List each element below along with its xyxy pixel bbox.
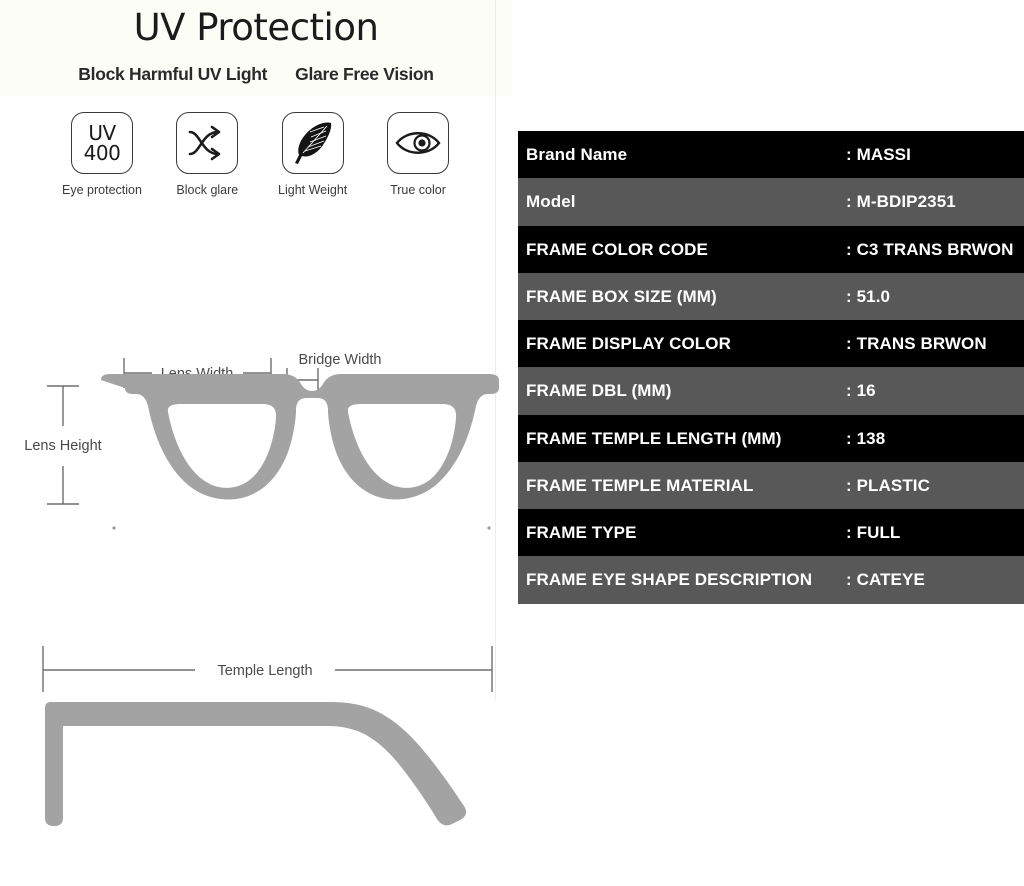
spec-value: : C3 TRANS BRWON — [836, 226, 1024, 273]
table-row: FRAME TEMPLE LENGTH (MM): 138 — [518, 415, 1024, 462]
eye-glyph — [395, 129, 441, 157]
spec-value: : 16 — [836, 367, 1024, 414]
lens-height-label: Lens Height — [24, 438, 101, 454]
spec-key: FRAME COLOR CODE — [518, 226, 836, 273]
spec-table-body: Brand Name: MASSIModel: M-BDIP2351FRAME … — [518, 131, 1024, 604]
spec-key: FRAME TEMPLE MATERIAL — [518, 462, 836, 509]
spec-value: : 138 — [836, 415, 1024, 462]
temple-length-label: Temple Length — [217, 663, 312, 679]
shuffle-arrows-glyph — [186, 125, 228, 161]
spec-value: : MASSI — [836, 131, 1024, 178]
feature-label-block-glare: Block glare — [176, 183, 238, 197]
spec-value: : PLASTIC — [836, 462, 1024, 509]
temple-arm-silhouette — [45, 702, 466, 826]
table-row: FRAME EYE SHAPE DESCRIPTION: CATEYE — [518, 556, 1024, 603]
uv-subtitle-block-harmful: Block Harmful UV Light — [78, 64, 267, 85]
eye-icon — [387, 112, 449, 174]
uv-subtitle-row: Block Harmful UV Light Glare Free Vision — [0, 64, 512, 85]
feather-glyph — [291, 120, 335, 166]
feature-light-weight: Light Weight — [265, 112, 361, 197]
frame-left-dot — [112, 526, 115, 529]
bridge-width-label: Bridge Width — [298, 352, 381, 368]
spec-value: : 51.0 — [836, 273, 1024, 320]
spec-key: Model — [518, 178, 836, 225]
feature-label-eye-protection: Eye protection — [62, 183, 142, 197]
spec-key: Brand Name — [518, 131, 836, 178]
table-row: FRAME TYPE: FULL — [518, 509, 1024, 556]
frame-right-dot — [487, 526, 490, 529]
feature-label-true-color: True color — [390, 183, 446, 197]
shuffle-arrows-icon — [176, 112, 238, 174]
spec-key: FRAME BOX SIZE (MM) — [518, 273, 836, 320]
table-row: Brand Name: MASSI — [518, 131, 1024, 178]
feather-icon — [282, 112, 344, 174]
feature-icon-row: UV 400 Eye protection Block glare — [54, 112, 466, 197]
spec-key: FRAME TEMPLE LENGTH (MM) — [518, 415, 836, 462]
uv-protection-infographic: UV Protection Block Harmful UV Light Gla… — [0, 0, 512, 886]
product-specification-table: Brand Name: MASSIModel: M-BDIP2351FRAME … — [518, 131, 1024, 604]
table-row: FRAME DISPLAY COLOR: TRANS BRWON — [518, 320, 1024, 367]
spec-key: FRAME EYE SHAPE DESCRIPTION — [518, 556, 836, 603]
table-row: FRAME TEMPLE MATERIAL: PLASTIC — [518, 462, 1024, 509]
uv400-icon: UV 400 — [71, 112, 133, 174]
uv400-icon-line2: 400 — [84, 143, 121, 163]
table-row: FRAME COLOR CODE: C3 TRANS BRWON — [518, 226, 1024, 273]
feature-label-light-weight: Light Weight — [278, 183, 347, 197]
eyeglasses-frame-silhouette — [101, 374, 499, 499]
table-row: FRAME DBL (MM): 16 — [518, 367, 1024, 414]
frame-temple-measurement-diagram: Temple Length — [0, 630, 512, 860]
spec-value: : FULL — [836, 509, 1024, 556]
spec-value: : M-BDIP2351 — [836, 178, 1024, 225]
spec-key: FRAME DBL (MM) — [518, 367, 836, 414]
feature-eye-protection: UV 400 Eye protection — [54, 112, 150, 197]
feature-true-color: True color — [370, 112, 466, 197]
feature-block-glare: Block glare — [159, 112, 255, 197]
spec-key: FRAME DISPLAY COLOR — [518, 320, 836, 367]
spec-value: : TRANS BRWON — [836, 320, 1024, 367]
uv400-icon-line1: UV — [84, 123, 121, 143]
spec-key: FRAME TYPE — [518, 509, 836, 556]
uv-subtitle-glare-free: Glare Free Vision — [295, 64, 434, 85]
page-title: UV Protection — [0, 6, 512, 49]
spec-value: : CATEYE — [836, 556, 1024, 603]
frame-front-measurement-diagram: Lens Width Bridge Width Lens Height — [0, 326, 512, 556]
table-row: FRAME BOX SIZE (MM): 51.0 — [518, 273, 1024, 320]
table-row: Model: M-BDIP2351 — [518, 178, 1024, 225]
